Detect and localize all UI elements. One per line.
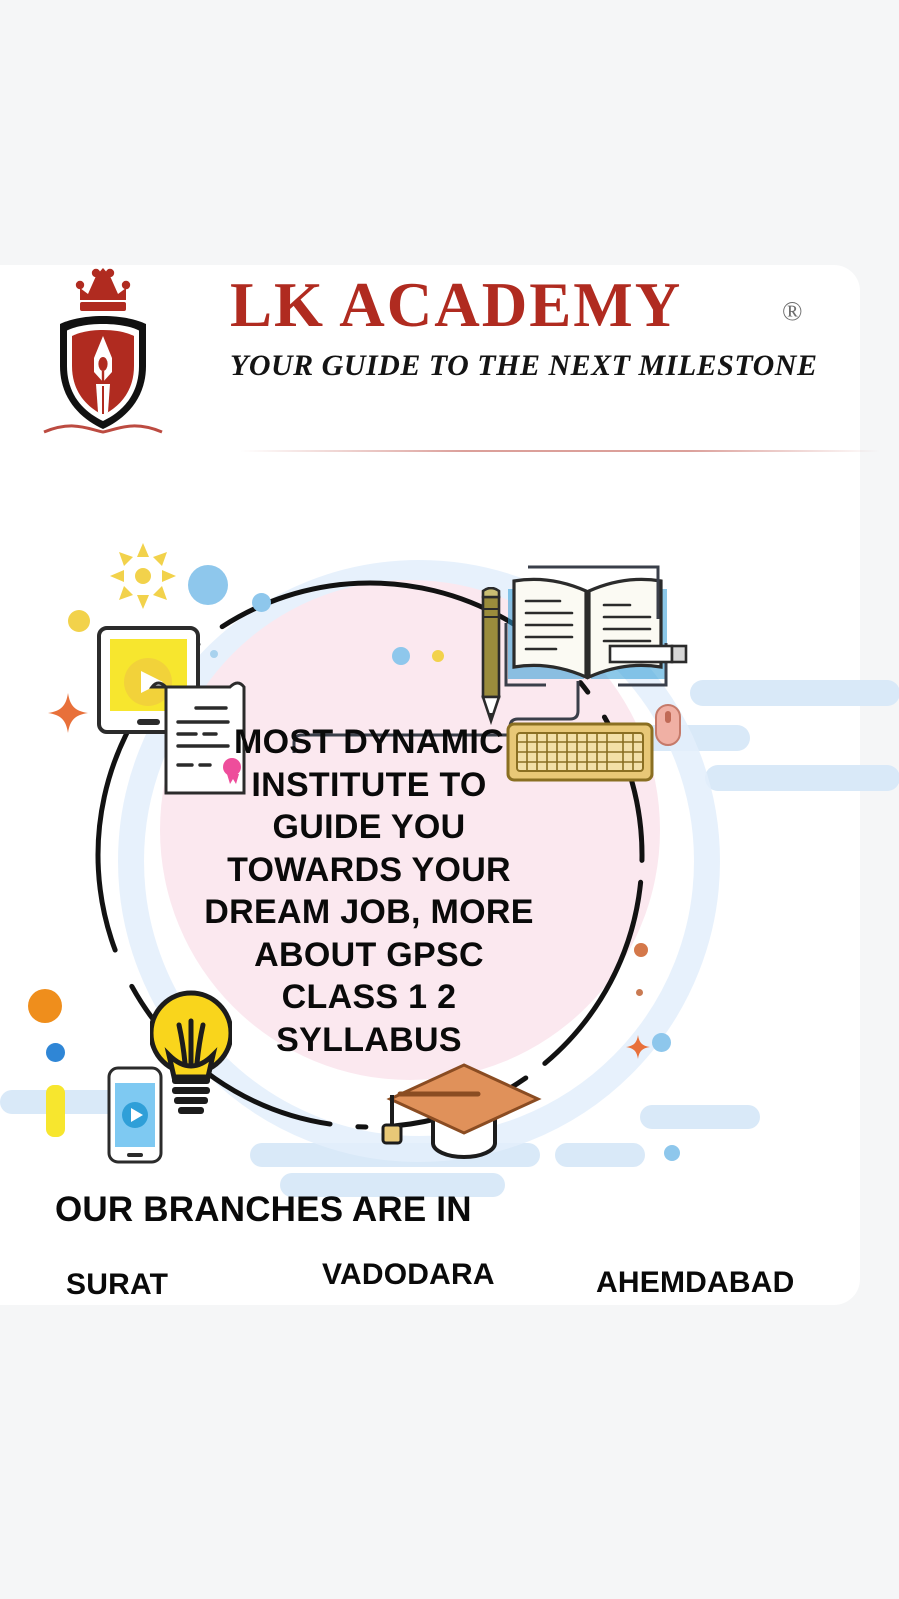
brand-tagline: YOUR GUIDE TO THE NEXT MILESTONE [230, 349, 850, 383]
yellow-bar [46, 1085, 65, 1137]
hero-headline: MOST DYNAMIC INSTITUTE TO GUIDE YOU TOWA… [176, 721, 562, 1061]
blue-small-dot [252, 593, 271, 612]
smartphone-video-icon [106, 1065, 164, 1165]
orange-dot-right [634, 943, 648, 957]
cloud-shape [690, 680, 899, 706]
blue-tiny-dot [210, 650, 218, 658]
blue-large-dot [188, 565, 228, 605]
graduation-cap-icon [378, 1047, 543, 1167]
blue-dot-right [652, 1033, 671, 1052]
blue-dot-right-lower [664, 1145, 680, 1161]
marker-pen-icon [608, 643, 688, 665]
brand-name: LK ACADEMY [230, 274, 850, 337]
brand-header: LK ACADEMY ® YOUR GUIDE TO THE NEXT MILE… [0, 252, 860, 442]
sunburst-icon [110, 543, 176, 609]
orange-sparkle-left [48, 693, 88, 733]
orange-circle-dot [28, 989, 62, 1023]
brand-divider [240, 450, 880, 452]
yellow-small-dot [432, 650, 444, 662]
branches-title: OUR BRANCHES ARE IN [55, 1190, 472, 1230]
yellow-dot [68, 610, 90, 632]
registered-mark-icon: ® [782, 296, 803, 327]
cloud-shape [705, 765, 899, 791]
poster-canvas: LK ACADEMY ® YOUR GUIDE TO THE NEXT MILE… [0, 0, 899, 1599]
branch-vadodara: VADODARA [322, 1258, 495, 1292]
brand-wordmark: LK ACADEMY ® YOUR GUIDE TO THE NEXT MILE… [230, 274, 850, 383]
blue-circle-dot [46, 1043, 65, 1062]
branch-surat: SURAT [66, 1268, 168, 1302]
blue-mid-dot [392, 647, 410, 665]
orange-sparkle-right [626, 1035, 650, 1059]
orange-tiny-dot-right [636, 989, 643, 996]
branch-ahemdabad: AHEMDABAD [596, 1266, 794, 1300]
shield-crown-pen-logo [38, 254, 168, 439]
computer-mouse-icon [654, 703, 682, 747]
hero-illustration: MOST DYNAMIC INSTITUTE TO GUIDE YOU TOWA… [0, 525, 899, 1205]
